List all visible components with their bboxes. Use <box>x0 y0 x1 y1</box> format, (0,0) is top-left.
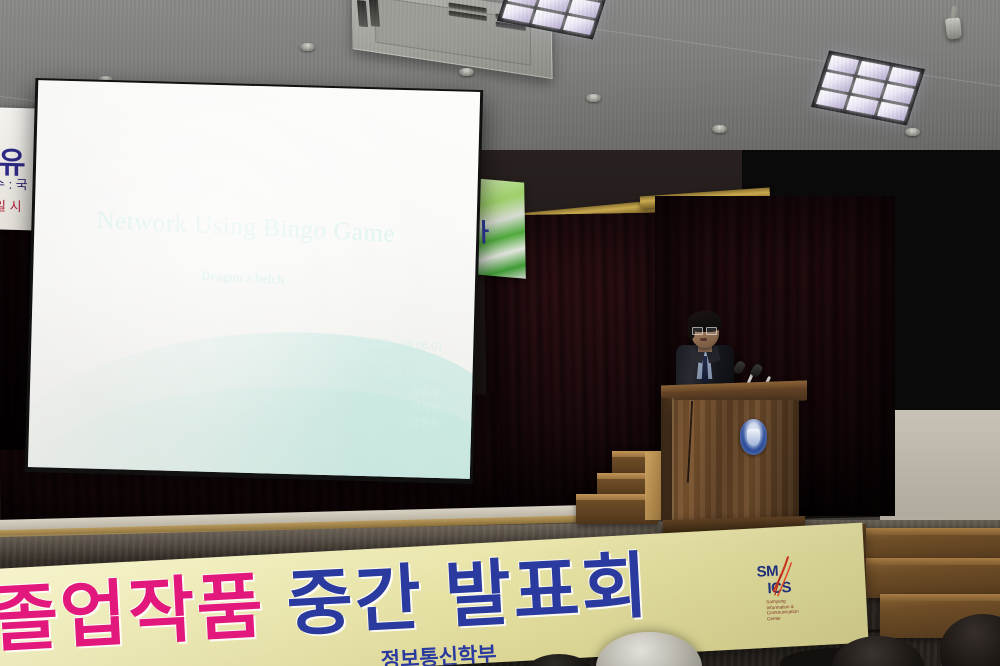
ceiling-grid-light <box>811 50 925 125</box>
university-crest-emblem <box>740 419 767 455</box>
sprinkler-head <box>712 125 727 133</box>
ceiling-grid-light <box>497 0 611 40</box>
banner-subtitle: 정보통신학부 <box>380 638 497 666</box>
ceiling-seam <box>548 22 1000 87</box>
speaker-mouth <box>700 338 707 341</box>
spotlight-arm <box>950 6 957 20</box>
slide-meta-block: 발표일 : 09.06.01 지도교수 : 박상봉 조원 : 송현주 송종우 안… <box>357 336 444 433</box>
ac-inner-panel <box>375 0 532 66</box>
ceiling-spotlight <box>945 17 962 39</box>
slide-meta-line: 강현욱 <box>357 414 440 433</box>
sprinkler-head <box>459 68 474 76</box>
projected-slide: Network Using Bingo Game Dragon's belch … <box>28 80 480 479</box>
projection-screen: Network Using Bingo Game Dragon's belch … <box>25 78 483 484</box>
right-stair-step <box>865 558 1000 598</box>
banner-headline: 졸업작품 중간 발표회 <box>0 550 651 657</box>
ac-vent <box>496 22 526 32</box>
banner-word-1: 졸업작품 <box>0 567 267 661</box>
logo-tagline: Samyung Information & Communication Cent… <box>766 598 799 623</box>
speaker-glasses <box>692 327 717 333</box>
sprinkler-head <box>300 43 315 51</box>
podium-edge-highlight <box>672 398 674 526</box>
banner-word-2: 중간 발표회 <box>285 546 652 645</box>
sprinkler-head <box>905 128 920 136</box>
ceiling-ac-unit <box>351 0 552 79</box>
auditorium-photo: 유 수 : 국 일 시 가 Network Using Bingo Game D… <box>0 0 1000 666</box>
slide-subtitle: Dragon's belch <box>201 268 285 288</box>
ac-vent <box>369 0 380 27</box>
ac-vent <box>449 10 487 21</box>
slide-title: Network Using Bingo Game <box>96 207 396 249</box>
ac-vent <box>496 14 526 24</box>
ac-vent <box>449 2 487 13</box>
poster-line-2: 수 : 국 <box>0 173 28 193</box>
ac-vent <box>357 0 368 27</box>
sprinkler-head <box>586 94 601 102</box>
logo-swoosh-icon <box>770 556 794 601</box>
poster-line-3: 일 시 <box>0 195 22 215</box>
sm-ics-logo: SM ICS Samyung Information & Communicati… <box>750 556 834 638</box>
